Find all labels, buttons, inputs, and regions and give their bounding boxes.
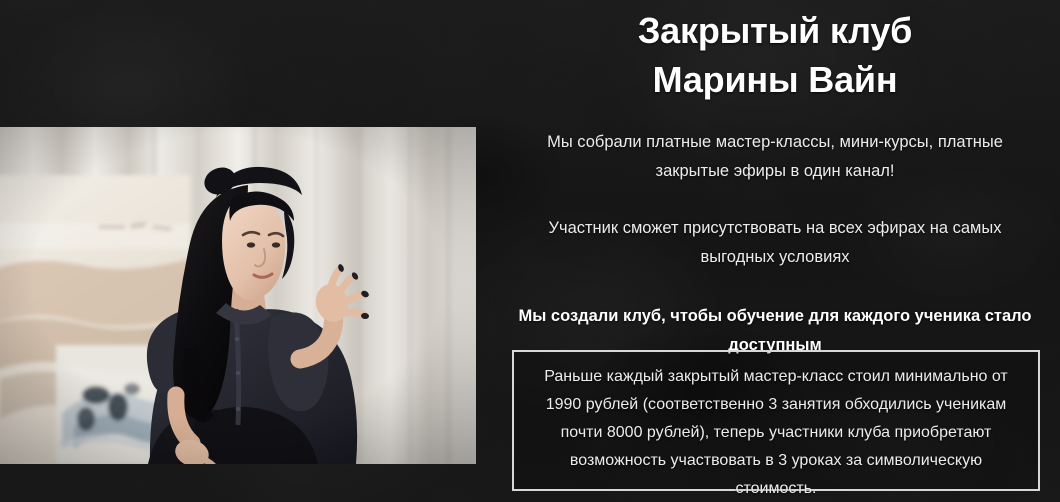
intro-paragraph-1: Мы собрали платные мастер-классы, мини-к… <box>490 104 1060 186</box>
portrait-photo: Женщина с длинными тёмными волосами в тё… <box>0 127 476 464</box>
pricing-callout-box: Раньше каждый закрытый мастер-класс стои… <box>512 350 1040 491</box>
page-title-line-1: Закрытый клуб <box>638 10 912 51</box>
intro-paragraph-2: Участник сможет присутствовать на всех э… <box>490 186 1060 272</box>
pricing-callout-text: Раньше каждый закрытый мастер-класс стои… <box>528 363 1024 502</box>
page-title: Закрытый клуб Марины Вайн <box>490 0 1060 104</box>
intro-paragraph-bold: Мы создали клуб, чтобы обучение для кажд… <box>490 272 1060 360</box>
promo-banner: Женщина с длинными тёмными волосами в тё… <box>0 0 1060 502</box>
page-title-line-2: Марины Вайн <box>653 59 898 100</box>
content-column: Закрытый клуб Марины Вайн Мы собрали пла… <box>490 0 1060 502</box>
portrait-photo-image: Женщина с длинными тёмными волосами в тё… <box>0 127 476 464</box>
